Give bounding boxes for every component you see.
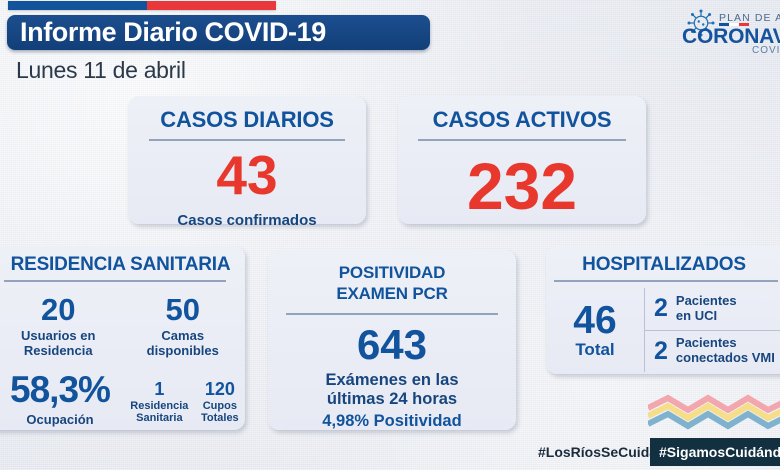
- residencia-count-label-2: Sanitaria: [136, 412, 182, 424]
- hospitalizados-total: 46 Total: [546, 288, 644, 372]
- residencia-camas-label-1: Camas: [161, 328, 204, 343]
- residencia-cupos-label-1: Cupos: [203, 400, 237, 412]
- page-title: Informe Diario COVID-19: [20, 19, 326, 46]
- residencia-ocupacion-label: Ocupación: [0, 412, 124, 427]
- residencia-ocupacion: 58,3% Ocupación: [0, 371, 124, 427]
- hospitalizados-uci: 2 Pacientes en UCI: [645, 288, 780, 330]
- divider: [418, 139, 626, 141]
- casos-diarios-caption: Casos confirmados: [128, 212, 366, 229]
- report-title-banner: Informe Diario COVID-19: [7, 15, 430, 50]
- residencia-title: RESIDENCIA SANITARIA: [0, 254, 245, 276]
- divider: [554, 280, 778, 282]
- card-positividad-pcr: POSITIVIDAD EXAMEN PCR 643 Exámenes en l…: [268, 250, 516, 430]
- card-hospitalizados: HOSPITALIZADOS 46 Total 2 Pacientes en U…: [546, 246, 780, 374]
- hospitalizados-uci-label-1: Pacientes: [676, 293, 737, 308]
- residencia-small-stats: 1 Residencia Sanitaria 120 Cupos Totales: [124, 380, 245, 427]
- covid-daily-report: Informe Diario COVID-19 Lunes 11 de abri…: [0, 0, 780, 470]
- residencia-usuarios: 20 Usuarios en Residencia: [0, 294, 121, 359]
- residencia-camas-value: 50: [121, 294, 246, 325]
- card-casos-activos: CASOS ACTIVOS 232: [398, 96, 646, 224]
- hospitalizados-body: 46 Total 2 Pacientes en UCI 2 Pacientes …: [546, 288, 780, 372]
- residencia-count-label-1: Residencia: [130, 400, 188, 412]
- hospitalizados-uci-value: 2: [654, 296, 668, 321]
- casos-diarios-title: CASOS DIARIOS: [128, 107, 366, 133]
- pcr-caption-line-1: Exámenes en las: [268, 371, 516, 391]
- pcr-title-line-2: EXAMEN PCR: [336, 284, 447, 303]
- casos-activos-title: CASOS ACTIVOS: [398, 107, 646, 133]
- pcr-caption-line-2: últimas 24 horas: [268, 390, 516, 410]
- divider: [286, 313, 498, 315]
- hospitalizados-vmi-label-2: conectados VMI: [676, 350, 775, 365]
- residencia-ocupacion-value: 58,3%: [0, 371, 124, 408]
- pcr-captions: Exámenes en las últimas 24 horas 4,98% P…: [268, 371, 516, 432]
- card-residencia-sanitaria: RESIDENCIA SANITARIA 20 Usuarios en Resi…: [0, 246, 245, 430]
- residencia-usuarios-label-1: Usuarios en: [21, 328, 95, 343]
- hashtag-los-rios-se-cuida: #LosRíosSeCuida: [538, 444, 657, 460]
- hospitalizados-title: HOSPITALIZADOS: [546, 254, 780, 276]
- residencia-cupos: 120 Cupos Totales: [201, 380, 239, 425]
- hospitalizados-vmi-value: 2: [654, 339, 668, 364]
- residencia-cupos-value: 120: [201, 380, 239, 398]
- casos-activos-value: 232: [398, 153, 646, 219]
- flag-red-segment: [147, 1, 276, 10]
- hospitalizados-breakdown: 2 Pacientes en UCI 2 Pacientes conectado…: [644, 288, 780, 372]
- residencia-count-value: 1: [130, 380, 188, 398]
- hashtag-sigamos-cuidandonos-label: #SigamosCuidándonos: [659, 444, 780, 460]
- zigzag-decoration: [648, 394, 780, 430]
- residencia-row-top: 20 Usuarios en Residencia 50 Camas dispo…: [0, 294, 245, 359]
- pcr-value: 643: [268, 324, 516, 366]
- pcr-positivity-rate: 4,98% Positividad: [268, 411, 516, 432]
- divider: [4, 280, 226, 282]
- residencia-cupos-label-2: Totales: [201, 412, 239, 424]
- residencia-usuarios-value: 20: [0, 294, 121, 325]
- coronavirus-plan-logo: PLAN DE ACCIÓN CORONAVIRUS COVID-19: [682, 6, 780, 56]
- pcr-title-line-1: POSITIVIDAD: [339, 263, 445, 282]
- hospitalizados-vmi-label-1: Pacientes: [676, 335, 737, 350]
- chile-flag-bar: [8, 1, 276, 10]
- residencia-row-bottom: 58,3% Ocupación 1 Residencia Sanitaria 1…: [0, 371, 245, 427]
- logo-subbrand: COVID-19: [752, 45, 780, 56]
- casos-diarios-value: 43: [128, 148, 366, 203]
- residencia-usuarios-label-2: Residencia: [24, 343, 93, 358]
- report-date: Lunes 11 de abril: [16, 57, 186, 84]
- hashtag-sigamos-cuidandonos-badge: #SigamosCuidándonos: [650, 438, 780, 466]
- hospitalizados-uci-label-2: en UCI: [676, 308, 717, 323]
- divider: [149, 139, 345, 141]
- hospitalizados-total-label: Total: [546, 340, 644, 360]
- hospitalizados-vmi: 2 Pacientes conectados VMI: [645, 330, 780, 373]
- residencia-camas: 50 Camas disponibles: [121, 294, 246, 359]
- residencia-camas-label-2: disponibles: [147, 343, 219, 358]
- hospitalizados-total-value: 46: [546, 302, 644, 339]
- pcr-title: POSITIVIDAD EXAMEN PCR: [268, 262, 516, 305]
- card-casos-diarios: CASOS DIARIOS 43 Casos confirmados: [128, 96, 366, 224]
- flag-blue-segment: [8, 1, 147, 10]
- residencia-count: 1 Residencia Sanitaria: [130, 380, 188, 425]
